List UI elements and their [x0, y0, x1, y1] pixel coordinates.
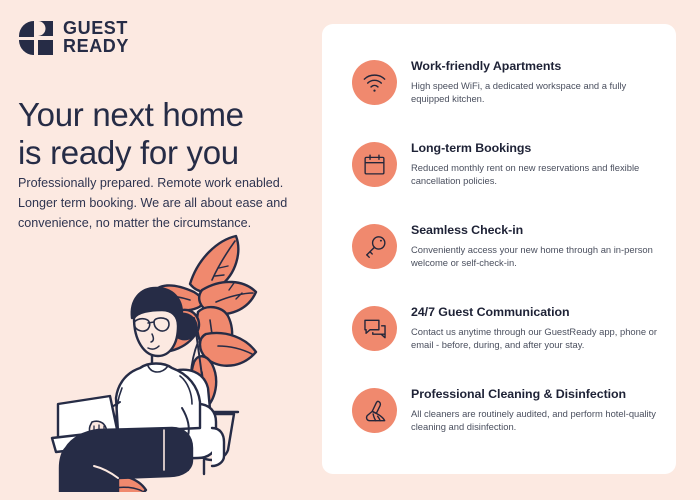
brand-wordmark: GUEST READY: [63, 20, 129, 55]
feature-text: Professional Cleaning & Disinfection All…: [411, 386, 660, 433]
guestready-quadrant-logo-icon: [18, 20, 54, 56]
headline-line-2: is ready for you: [18, 134, 308, 172]
feature-text: Work-friendly Apartments High speed WiFi…: [411, 58, 660, 105]
feature-description: Conveniently access your new home throug…: [411, 243, 660, 270]
feature-item-guest-communication[interactable]: 24/7 Guest Communication Contact us anyt…: [352, 304, 660, 351]
feature-description: Reduced monthly rent on new reservations…: [411, 161, 660, 188]
feature-text: Long-term Bookings Reduced monthly rent …: [411, 140, 660, 187]
brand-name-line2: READY: [63, 38, 129, 56]
feature-item-work-friendly-apartments[interactable]: Work-friendly Apartments High speed WiFi…: [352, 58, 660, 105]
hero-column: GUEST READY Your next home is ready for …: [0, 0, 320, 500]
chat-bubbles-icon: [352, 306, 397, 351]
feature-title: 24/7 Guest Communication: [411, 305, 660, 321]
wifi-icon: [352, 60, 397, 105]
promo-page: GUEST READY Your next home is ready for …: [0, 0, 700, 500]
brand-logo[interactable]: GUEST READY: [18, 20, 129, 56]
hero-illustration: [22, 222, 310, 492]
feature-description: High speed WiFi, a dedicated workspace a…: [411, 79, 660, 106]
headline-line-1: Your next home: [18, 96, 308, 134]
feature-title: Seamless Check-in: [411, 223, 660, 239]
key-icon: [352, 224, 397, 269]
feature-description: Contact us anytime through our GuestRead…: [411, 325, 660, 352]
calendar-icon: [352, 142, 397, 187]
feature-title: Professional Cleaning & Disinfection: [411, 387, 660, 403]
feature-item-long-term-bookings[interactable]: Long-term Bookings Reduced monthly rent …: [352, 140, 660, 187]
feature-title: Work-friendly Apartments: [411, 59, 660, 75]
feature-text: 24/7 Guest Communication Contact us anyt…: [411, 304, 660, 351]
broom-icon: [352, 388, 397, 433]
features-card: Work-friendly Apartments High speed WiFi…: [322, 24, 676, 474]
feature-item-cleaning-disinfection[interactable]: Professional Cleaning & Disinfection All…: [352, 386, 660, 433]
feature-item-seamless-check-in[interactable]: Seamless Check-in Conveniently access yo…: [352, 222, 660, 269]
feature-description: All cleaners are routinely audited, and …: [411, 407, 660, 434]
feature-text: Seamless Check-in Conveniently access yo…: [411, 222, 660, 269]
feature-title: Long-term Bookings: [411, 141, 660, 157]
page-title: Your next home is ready for you: [18, 96, 308, 173]
